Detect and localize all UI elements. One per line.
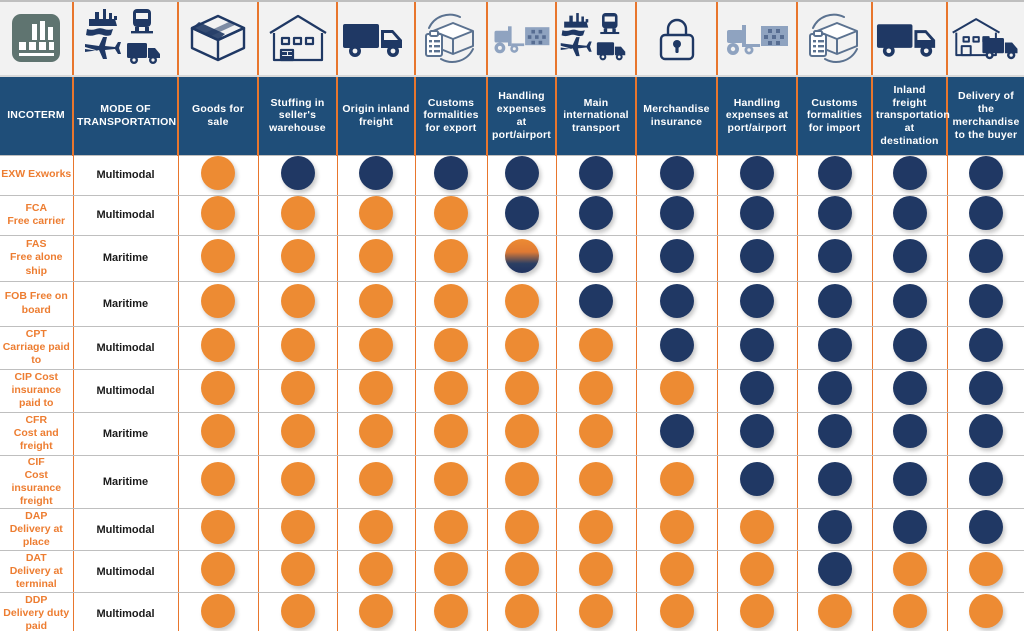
table-row: DAT Delivery at terminalMultimodal [0, 551, 1024, 593]
table-row: CIF Cost insurance freightMaritime [0, 455, 1024, 509]
responsibility-dot-seller [281, 552, 315, 586]
cell-import_customs [797, 155, 872, 195]
responsibility-dot-buyer [740, 156, 774, 190]
cell-insurance [636, 455, 717, 509]
responsibility-dot-seller [434, 552, 468, 586]
responsibility-dot-buyer [281, 156, 315, 190]
customs-clipboard-box-icon [418, 3, 484, 73]
responsibility-dot-seller [434, 284, 468, 318]
responsibility-dot-seller [359, 284, 393, 318]
column-header-stuffing: Stuffing in seller's warehouse [258, 76, 337, 155]
responsibility-dot-seller [579, 552, 613, 586]
responsibility-dot-buyer [579, 284, 613, 318]
truck-icon [875, 3, 944, 73]
cell-delivery_buyer [947, 593, 1024, 631]
responsibility-dot-buyer [818, 414, 852, 448]
cell-stuffing [258, 509, 337, 551]
responsibility-dot-seller [505, 328, 539, 362]
matrix-body: EXW ExworksMultimodalFCA Free carrierMul… [0, 155, 1024, 631]
cell-inland_dest [872, 195, 947, 235]
icon-header-row [0, 0, 1024, 76]
responsibility-dot-buyer [893, 414, 927, 448]
responsibility-dot-seller [505, 462, 539, 496]
icon-cell-mode [73, 0, 178, 76]
cell-handling_origin [487, 593, 556, 631]
responsibility-dot-seller [893, 552, 927, 586]
responsibility-dot-buyer [579, 239, 613, 273]
responsibility-dot-buyer [969, 328, 1003, 362]
cell-handling_dest [717, 281, 797, 326]
cell-export_customs [415, 369, 487, 412]
responsibility-dot-seller [359, 328, 393, 362]
responsibility-dot-buyer [818, 239, 852, 273]
column-header-mode: MODE OF TRANSPORTATION [73, 76, 178, 155]
cell-insurance [636, 412, 717, 455]
column-header-main_transport: Main international transport [556, 76, 636, 155]
cell-insurance [636, 509, 717, 551]
cell-delivery_buyer [947, 412, 1024, 455]
cell-export_customs [415, 455, 487, 509]
cell-stuffing [258, 195, 337, 235]
responsibility-dot-seller [740, 594, 774, 628]
cell-import_customs [797, 281, 872, 326]
cell-export_customs [415, 551, 487, 593]
incoterm-label: FCA Free carrier [0, 195, 73, 235]
icon-cell-insurance [636, 0, 717, 76]
cell-main_transport [556, 551, 636, 593]
cell-stuffing [258, 155, 337, 195]
responsibility-dot-seller [281, 371, 315, 405]
responsibility-dot-buyer [969, 510, 1003, 544]
mode-label: Multimodal [73, 369, 178, 412]
icon-cell-inland_dest [872, 0, 947, 76]
cell-delivery_buyer [947, 195, 1024, 235]
cell-main_transport [556, 235, 636, 281]
responsibility-dot-buyer [660, 328, 694, 362]
table-row: FAS Free alone shipMaritime [0, 235, 1024, 281]
responsibility-dot-seller [281, 284, 315, 318]
responsibility-dot-seller [434, 371, 468, 405]
responsibility-dot-seller [201, 328, 235, 362]
truck-icon [340, 3, 412, 73]
icon-cell-goods [178, 0, 258, 76]
responsibility-dot-seller [579, 371, 613, 405]
responsibility-dot-buyer [434, 156, 468, 190]
column-header-row: INCOTERMMODE OF TRANSPORTATIONGoods for … [0, 76, 1024, 155]
responsibility-dot-buyer [969, 414, 1003, 448]
responsibility-dot-seller [818, 594, 852, 628]
cell-export_customs [415, 195, 487, 235]
cell-main_transport [556, 369, 636, 412]
responsibility-dot-buyer [818, 284, 852, 318]
padlock-icon [639, 3, 714, 73]
responsibility-dot-buyer [740, 284, 774, 318]
table-row: CIP Cost insurance paid toMultimodal [0, 369, 1024, 412]
responsibility-dot-buyer [893, 284, 927, 318]
responsibility-dot-buyer [660, 239, 694, 273]
responsibility-dot-buyer [893, 371, 927, 405]
cell-handling_dest [717, 509, 797, 551]
cell-origin_freight [337, 281, 415, 326]
cell-delivery_buyer [947, 235, 1024, 281]
cell-handling_dest [717, 593, 797, 631]
cell-delivery_buyer [947, 326, 1024, 369]
responsibility-dot-seller [969, 594, 1003, 628]
incoterm-label: EXW Exworks [0, 155, 73, 195]
responsibility-dot-buyer [969, 284, 1003, 318]
responsibility-dot-buyer [893, 328, 927, 362]
cell-main_transport [556, 195, 636, 235]
cell-origin_freight [337, 195, 415, 235]
column-header-incoterm: INCOTERM [0, 76, 73, 155]
responsibility-dot-seller [201, 552, 235, 586]
cell-delivery_buyer [947, 155, 1024, 195]
cell-goods [178, 326, 258, 369]
incoterms-table: INCOTERMMODE OF TRANSPORTATIONGoods for … [0, 0, 1024, 631]
incoterm-label: CIP Cost insurance paid to [0, 369, 73, 412]
responsibility-dot-seller [359, 239, 393, 273]
responsibility-dot-seller [434, 328, 468, 362]
responsibility-dot-buyer [579, 156, 613, 190]
customs-clipboard-box-icon [800, 3, 869, 73]
cell-handling_origin [487, 326, 556, 369]
cell-insurance [636, 551, 717, 593]
responsibility-dot-buyer [818, 156, 852, 190]
cell-handling_origin [487, 195, 556, 235]
responsibility-dot-seller [281, 594, 315, 628]
cell-stuffing [258, 369, 337, 412]
icon-cell-handling_dest [717, 0, 797, 76]
cell-handling_origin [487, 455, 556, 509]
responsibility-dot-seller [201, 510, 235, 544]
cell-delivery_buyer [947, 551, 1024, 593]
incoterm-label: DAP Delivery at place [0, 509, 73, 551]
mode-label: Maritime [73, 281, 178, 326]
warehouse-icon [261, 3, 334, 73]
multimodal-transport-icon [559, 3, 633, 73]
responsibility-dot-seller [434, 196, 468, 230]
responsibility-dot-buyer [740, 196, 774, 230]
responsibility-dot-buyer [505, 196, 539, 230]
cell-import_customs [797, 326, 872, 369]
responsibility-dot-seller [505, 284, 539, 318]
responsibility-dot-seller [505, 594, 539, 628]
responsibility-dot-seller [660, 371, 694, 405]
responsibility-dot-seller [579, 594, 613, 628]
responsibility-dot-seller [201, 371, 235, 405]
cell-import_customs [797, 195, 872, 235]
column-header-delivery_buyer: Delivery of the merchandise to the buyer [947, 76, 1024, 155]
responsibility-dot-seller [359, 371, 393, 405]
responsibility-dot-seller [281, 328, 315, 362]
cell-inland_dest [872, 369, 947, 412]
responsibility-dot-buyer [818, 371, 852, 405]
cell-inland_dest [872, 593, 947, 631]
responsibility-dot-buyer [660, 196, 694, 230]
mode-label: Maritime [73, 412, 178, 455]
cell-goods [178, 195, 258, 235]
cell-stuffing [258, 593, 337, 631]
cell-goods [178, 235, 258, 281]
cell-main_transport [556, 412, 636, 455]
incoterms-matrix: INCOTERMMODE OF TRANSPORTATIONGoods for … [0, 0, 1024, 631]
responsibility-dot-seller [893, 594, 927, 628]
table-row: DDP Delivery duty paidMultimodal [0, 593, 1024, 631]
responsibility-dot-buyer [660, 284, 694, 318]
cell-origin_freight [337, 509, 415, 551]
factory-icon [2, 3, 70, 73]
cell-main_transport [556, 281, 636, 326]
table-row: FCA Free carrierMultimodal [0, 195, 1024, 235]
cell-inland_dest [872, 412, 947, 455]
responsibility-dot-buyer [740, 328, 774, 362]
responsibility-dot-seller [579, 414, 613, 448]
warehouse-truck-icon [950, 3, 1022, 73]
responsibility-dot-buyer [359, 156, 393, 190]
responsibility-dot-seller [281, 414, 315, 448]
responsibility-dot-buyer [969, 196, 1003, 230]
cell-import_customs [797, 551, 872, 593]
responsibility-dot-buyer [818, 462, 852, 496]
cell-handling_dest [717, 155, 797, 195]
incoterm-label: CPT Carriage paid to [0, 326, 73, 369]
responsibility-dot-buyer [579, 196, 613, 230]
responsibility-dot-seller [660, 594, 694, 628]
cell-main_transport [556, 155, 636, 195]
cell-inland_dest [872, 281, 947, 326]
responsibility-dot-buyer [969, 156, 1003, 190]
column-header-handling_origin: Handling expenses at port/airport [487, 76, 556, 155]
responsibility-dot-seller [434, 510, 468, 544]
table-row: FOB Free on boardMaritime [0, 281, 1024, 326]
responsibility-dot-seller [359, 510, 393, 544]
responsibility-dot-buyer [893, 462, 927, 496]
responsibility-dot-buyer [969, 371, 1003, 405]
responsibility-dot-seller [660, 462, 694, 496]
cell-goods [178, 593, 258, 631]
cell-delivery_buyer [947, 455, 1024, 509]
responsibility-dot-seller [359, 414, 393, 448]
cell-origin_freight [337, 455, 415, 509]
icon-cell-main_transport [556, 0, 636, 76]
responsibility-dot-buyer [818, 510, 852, 544]
cell-goods [178, 509, 258, 551]
icon-cell-handling_origin [487, 0, 556, 76]
cell-goods [178, 155, 258, 195]
responsibility-dot-seller [505, 371, 539, 405]
responsibility-dot-buyer [660, 156, 694, 190]
column-header-export_customs: Customs formalities for export [415, 76, 487, 155]
responsibility-dot-buyer [893, 239, 927, 273]
responsibility-dot-seller [359, 196, 393, 230]
responsibility-dot-buyer [818, 196, 852, 230]
cell-handling_origin [487, 509, 556, 551]
cell-export_customs [415, 155, 487, 195]
responsibility-dot-seller [281, 196, 315, 230]
cell-handling_origin [487, 551, 556, 593]
cell-import_customs [797, 235, 872, 281]
incoterm-label: DDP Delivery duty paid [0, 593, 73, 631]
cell-main_transport [556, 326, 636, 369]
cell-stuffing [258, 235, 337, 281]
icon-cell-stuffing [258, 0, 337, 76]
responsibility-dot-seller [434, 239, 468, 273]
mode-label: Multimodal [73, 326, 178, 369]
responsibility-dot-buyer [818, 328, 852, 362]
responsibility-dot-buyer [818, 552, 852, 586]
responsibility-dot-buyer [740, 371, 774, 405]
responsibility-dot-seller [281, 239, 315, 273]
responsibility-dot-seller [579, 510, 613, 544]
cell-origin_freight [337, 155, 415, 195]
cell-export_customs [415, 593, 487, 631]
forklift-container-icon [490, 3, 553, 73]
cell-import_customs [797, 593, 872, 631]
cell-main_transport [556, 593, 636, 631]
cell-delivery_buyer [947, 281, 1024, 326]
cell-insurance [636, 281, 717, 326]
responsibility-dot-seller [740, 510, 774, 544]
responsibility-dot-split [505, 239, 539, 273]
cell-goods [178, 551, 258, 593]
responsibility-dot-buyer [505, 156, 539, 190]
cell-origin_freight [337, 412, 415, 455]
column-header-handling_dest: Handling expenses at port/airport [717, 76, 797, 155]
responsibility-dot-seller [660, 510, 694, 544]
cell-origin_freight [337, 551, 415, 593]
incoterm-label: FAS Free alone ship [0, 235, 73, 281]
cell-main_transport [556, 509, 636, 551]
responsibility-dot-seller [969, 552, 1003, 586]
cell-handling_dest [717, 326, 797, 369]
cell-goods [178, 455, 258, 509]
responsibility-dot-buyer [740, 462, 774, 496]
cell-import_customs [797, 455, 872, 509]
table-row: CFR Cost and freightMaritime [0, 412, 1024, 455]
responsibility-dot-seller [201, 156, 235, 190]
incoterm-label: DAT Delivery at terminal [0, 551, 73, 593]
responsibility-dot-seller [201, 284, 235, 318]
responsibility-dot-buyer [740, 239, 774, 273]
icon-cell-delivery_buyer [947, 0, 1024, 76]
responsibility-dot-seller [201, 462, 235, 496]
mode-label: Multimodal [73, 551, 178, 593]
cell-goods [178, 412, 258, 455]
cell-stuffing [258, 281, 337, 326]
responsibility-dot-seller [434, 414, 468, 448]
mode-label: Maritime [73, 235, 178, 281]
cell-import_customs [797, 412, 872, 455]
cell-import_customs [797, 369, 872, 412]
responsibility-dot-seller [740, 552, 774, 586]
forklift-container-icon [720, 3, 794, 73]
mode-label: Multimodal [73, 593, 178, 631]
column-header-goods: Goods for sale [178, 76, 258, 155]
responsibility-dot-buyer [893, 156, 927, 190]
cell-handling_origin [487, 281, 556, 326]
cell-handling_dest [717, 455, 797, 509]
cell-stuffing [258, 326, 337, 369]
responsibility-dot-buyer [969, 239, 1003, 273]
cell-insurance [636, 155, 717, 195]
column-header-insurance: Merchandise insurance [636, 76, 717, 155]
table-row: EXW ExworksMultimodal [0, 155, 1024, 195]
cell-handling_dest [717, 195, 797, 235]
column-header-import_customs: Customs formalities for import [797, 76, 872, 155]
cell-goods [178, 369, 258, 412]
responsibility-dot-seller [505, 510, 539, 544]
cell-inland_dest [872, 509, 947, 551]
table-row: CPT Carriage paid toMultimodal [0, 326, 1024, 369]
cell-stuffing [258, 551, 337, 593]
responsibility-dot-seller [660, 552, 694, 586]
cell-handling_origin [487, 235, 556, 281]
cell-export_customs [415, 412, 487, 455]
responsibility-dot-buyer [740, 414, 774, 448]
cell-handling_origin [487, 412, 556, 455]
table-row: DAP Delivery at placeMultimodal [0, 509, 1024, 551]
cell-insurance [636, 326, 717, 369]
cell-inland_dest [872, 326, 947, 369]
cell-insurance [636, 195, 717, 235]
cell-delivery_buyer [947, 369, 1024, 412]
icon-cell-origin_freight [337, 0, 415, 76]
cell-export_customs [415, 281, 487, 326]
cell-origin_freight [337, 593, 415, 631]
cell-handling_dest [717, 235, 797, 281]
cell-goods [178, 281, 258, 326]
cell-delivery_buyer [947, 509, 1024, 551]
incoterm-label: FOB Free on board [0, 281, 73, 326]
responsibility-dot-seller [434, 462, 468, 496]
cell-inland_dest [872, 455, 947, 509]
responsibility-dot-buyer [893, 196, 927, 230]
incoterm-label: CFR Cost and freight [0, 412, 73, 455]
cell-inland_dest [872, 551, 947, 593]
icon-cell-export_customs [415, 0, 487, 76]
responsibility-dot-seller [359, 594, 393, 628]
responsibility-dot-seller [579, 462, 613, 496]
responsibility-dot-seller [281, 462, 315, 496]
cell-export_customs [415, 509, 487, 551]
cell-main_transport [556, 455, 636, 509]
responsibility-dot-seller [201, 594, 235, 628]
responsibility-dot-seller [505, 414, 539, 448]
icon-cell-import_customs [797, 0, 872, 76]
cell-handling_dest [717, 369, 797, 412]
responsibility-dot-seller [201, 414, 235, 448]
responsibility-dot-buyer [660, 414, 694, 448]
package-icon [181, 3, 255, 73]
responsibility-dot-buyer [969, 462, 1003, 496]
mode-label: Multimodal [73, 155, 178, 195]
column-header-origin_freight: Origin inland freight [337, 76, 415, 155]
cell-handling_origin [487, 155, 556, 195]
cell-stuffing [258, 455, 337, 509]
cell-inland_dest [872, 235, 947, 281]
responsibility-dot-buyer [893, 510, 927, 544]
cell-export_customs [415, 326, 487, 369]
mode-label: Maritime [73, 455, 178, 509]
icon-cell-incoterm [0, 0, 73, 76]
cell-insurance [636, 235, 717, 281]
responsibility-dot-seller [359, 462, 393, 496]
responsibility-dot-seller [201, 239, 235, 273]
cell-origin_freight [337, 326, 415, 369]
cell-handling_origin [487, 369, 556, 412]
responsibility-dot-seller [434, 594, 468, 628]
responsibility-dot-seller [201, 196, 235, 230]
